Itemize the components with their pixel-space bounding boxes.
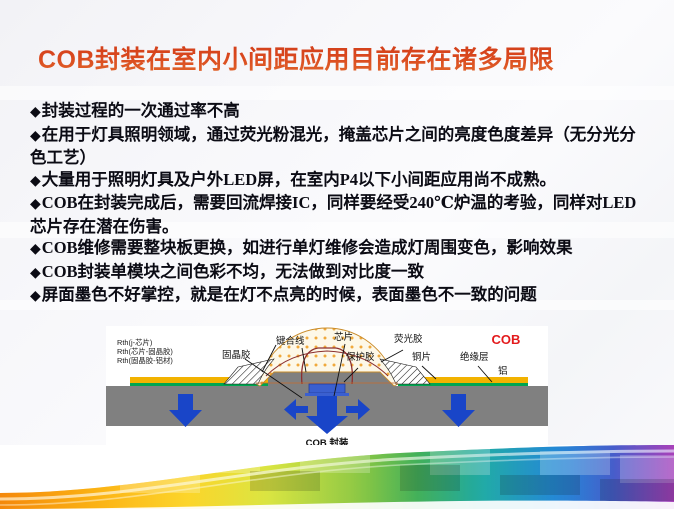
- diamond-bullet-icon: ◆: [30, 105, 41, 120]
- cob-watermark: COB: [492, 332, 521, 347]
- list-item: ◆大量用于照明灯具及户外LED屏，在室内P4以下小间距应用尚不成熟。: [30, 169, 652, 193]
- list-item-text: COB维修需要整块板更换，如进行单灯维修会造成灯周围变色，影响效果: [42, 238, 573, 257]
- bullet-list: ◆封装过程的一次通过率不高 ◆在用于灯具照明领域，通过荧光粉混光，掩盖芯片之间的…: [30, 100, 652, 308]
- list-item: ◆COB维修需要整块板更换，如进行单灯维修会造成灯周围变色，影响效果: [30, 237, 652, 261]
- callout-phosphor-glue: 荧光胶: [394, 333, 423, 345]
- list-item: ◆COB在封装完成后，需要回流焊接IC，同样要经受240℃炉温的考验，同样对LE…: [30, 192, 652, 237]
- cob-package-cross-section-diagram: Rth(j-芯片) Rth(芯片-固晶胶) Rth(固晶胶-铝材) COB: [106, 326, 548, 454]
- list-item-text: 封装过程的一次通过率不高: [42, 101, 240, 120]
- list-item: ◆在用于灯具照明领域，通过荧光粉混光，掩盖芯片之间的亮度色度差异（无分光分色工艺…: [30, 124, 652, 169]
- diamond-bullet-icon: ◆: [30, 266, 41, 281]
- callout-protective-glue: 保护胶: [346, 351, 375, 363]
- callout-chip: 芯片: [334, 331, 353, 343]
- decorative-swoosh-banner: [0, 445, 674, 509]
- slide-canvas: COB封装在室内小间距应用目前存在诸多局限 ◆封装过程的一次通过率不高 ◆在用于…: [0, 0, 674, 509]
- diamond-bullet-icon: ◆: [30, 197, 41, 212]
- page-title: COB封装在室内小间距应用目前存在诸多局限: [38, 40, 638, 76]
- thermal-label: Rth(芯片-固晶胶): [117, 347, 173, 356]
- die-attach-adhesive: [305, 393, 349, 396]
- list-item-text: 屏面墨色不好掌控，就是在灯不点亮的时候，表面墨色不一致的问题: [42, 285, 537, 304]
- list-item-text: 大量用于照明灯具及户外LED屏，在室内P4以下小间距应用尚不成熟。: [42, 170, 556, 189]
- chip: [309, 384, 345, 393]
- list-item: ◆COB封装单模块之间色彩不均，无法做到对比度一致: [30, 261, 652, 285]
- callout-die-attach-adhesive: 固晶胶: [222, 349, 251, 361]
- list-item-text: 在用于灯具照明领域，通过荧光粉混光，掩盖芯片之间的亮度色度差异（无分光分色工艺）: [30, 125, 636, 168]
- diamond-bullet-icon: ◆: [30, 174, 41, 189]
- thermal-label: Rth(固晶胶-铝材): [117, 356, 173, 365]
- diamond-bullet-icon: ◆: [30, 129, 41, 144]
- callout-aluminium: 铝: [498, 365, 508, 377]
- callout-insulation-layer: 绝缘层: [460, 351, 489, 363]
- callout-bond-wire: 键合线: [276, 335, 305, 347]
- diamond-bullet-icon: ◆: [30, 289, 41, 304]
- diamond-bullet-icon: ◆: [30, 242, 41, 257]
- background-stripe: [0, 86, 674, 100]
- list-item-text: COB封装单模块之间色彩不均，无法做到对比度一致: [42, 262, 424, 281]
- list-item: ◆屏面墨色不好掌控，就是在灯不点亮的时候，表面墨色不一致的问题: [30, 284, 652, 308]
- list-item-text: COB在封装完成后，需要回流焊接IC，同样要经受240℃炉温的考验，同样对LED…: [30, 193, 636, 236]
- thermal-label: Rth(j-芯片): [117, 338, 152, 347]
- callout-copper-sheet: 铜片: [412, 351, 431, 363]
- list-item: ◆封装过程的一次通过率不高: [30, 100, 652, 124]
